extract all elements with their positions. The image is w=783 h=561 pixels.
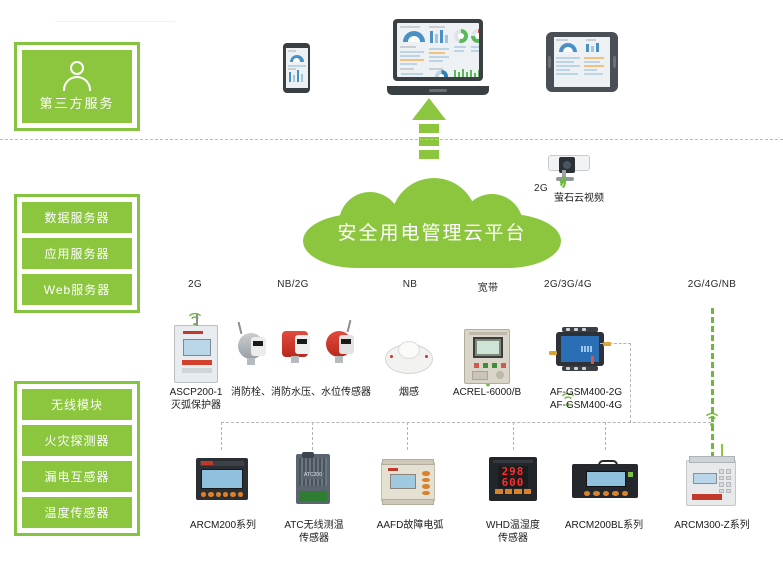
connector-gsm-out [600, 343, 631, 344]
network-label-1: NB/2G [268, 279, 318, 290]
device-label-acrel: ACREL-6000/B [448, 386, 526, 399]
sensor-stack-panel[interactable]: 无线模块 火灾探测器 漏电互感器 温度传感器 [14, 381, 140, 536]
network-label-2: NB [390, 279, 430, 290]
server-stack-panel[interactable]: 数据服务器 应用服务器 Web服务器 [14, 194, 140, 313]
device-acrel-6000b [464, 329, 510, 384]
sidebar-item-leakage-ct[interactable]: 漏电互感器 [22, 461, 132, 492]
connector-bus-drop-3 [513, 422, 514, 450]
uplink-arrow-icon [412, 98, 446, 158]
device-label-arcm300z: ARCM300-Z系列 [664, 519, 760, 532]
device-arcm200-series [196, 458, 248, 500]
laptop-dashboard [397, 23, 479, 77]
cloud-platform: 安全用电管理云平台 [303, 178, 561, 268]
connector-bus-drop-1 [312, 422, 313, 450]
third-party-service-panel[interactable]: 第三方服务 [14, 42, 140, 131]
sidebar-item-app-server[interactable]: 应用服务器 [22, 238, 132, 269]
device-smoke-detector [385, 338, 433, 378]
device-pressure-sensor-2 [282, 331, 308, 357]
device-label-arcm200: ARCM200系列 [186, 519, 260, 532]
connector-bus [221, 422, 711, 423]
smartphone-client [283, 43, 310, 93]
connector-green-arcm300 [711, 308, 714, 458]
top-hairline [55, 21, 175, 22]
connector-bus-drop-2 [407, 422, 408, 450]
device-label-aafd: AAFD故障电弧 [371, 519, 449, 532]
sidebar-item-wireless-module[interactable]: 无线模块 [22, 389, 132, 420]
device-label-smoke: 烟感 [382, 386, 436, 399]
network-label-0: 2G [175, 279, 215, 290]
device-label-whd: WHD温湿度 传感器 [478, 519, 548, 545]
device-arcm300-z-series [686, 460, 736, 506]
network-label-5: 2G/4G/NB [678, 279, 746, 290]
device-aafd-arc-fault [381, 462, 435, 502]
connector-bus-drop-4 [605, 422, 606, 450]
third-party-service-label: 第三方服务 [39, 93, 114, 112]
sidebar-item-temp-sensor[interactable]: 温度传感器 [22, 497, 132, 528]
sidebar-item-web-server[interactable]: Web服务器 [22, 274, 132, 305]
device-atc-wireless-temp: ATC200 [296, 454, 330, 504]
network-label-3: 宽带 [466, 279, 510, 294]
laptop-client [387, 19, 489, 95]
sidebar-item-data-server[interactable]: 数据服务器 [22, 202, 132, 233]
person-icon [62, 61, 92, 91]
device-ascp200-arc-protector [174, 325, 218, 383]
device-pressure-sensor-1 [238, 333, 264, 359]
cloud-platform-title: 安全用电管理云平台 [303, 218, 561, 245]
camera-network-label: 2G [534, 178, 548, 196]
device-af-gsm400 [553, 327, 607, 371]
device-label-arcm200bl: ARCM200BL系列 [556, 519, 652, 532]
network-label-4: 2G/3G/4G [534, 279, 602, 290]
tablet-client [546, 32, 618, 92]
third-party-service-cell: 第三方服务 [22, 50, 132, 123]
architecture-diagram: 第三方服务 数据服务器 应用服务器 Web服务器 无线模块 火灾探测器 漏电互感… [0, 0, 783, 561]
device-label-atc: ATC无线测温 传感器 [278, 519, 350, 545]
device-label-gsm400: AF-GSM400-2G AF-GSM400-4G [536, 386, 636, 412]
device-label-water-sensors: 消防栓、消防水压、水位传感器 [226, 386, 376, 399]
sidebar-item-fire-detector[interactable]: 火灾探测器 [22, 425, 132, 456]
connector-bus-drop-0 [221, 422, 222, 450]
device-arcm200bl-series [572, 464, 638, 498]
device-water-level-sensor [326, 331, 352, 357]
section-divider [0, 139, 783, 140]
camera-label: 萤石云视频 [554, 189, 604, 204]
device-whd-temp-humidity: 298600 [489, 457, 537, 501]
connector-gsm-down [630, 343, 631, 423]
